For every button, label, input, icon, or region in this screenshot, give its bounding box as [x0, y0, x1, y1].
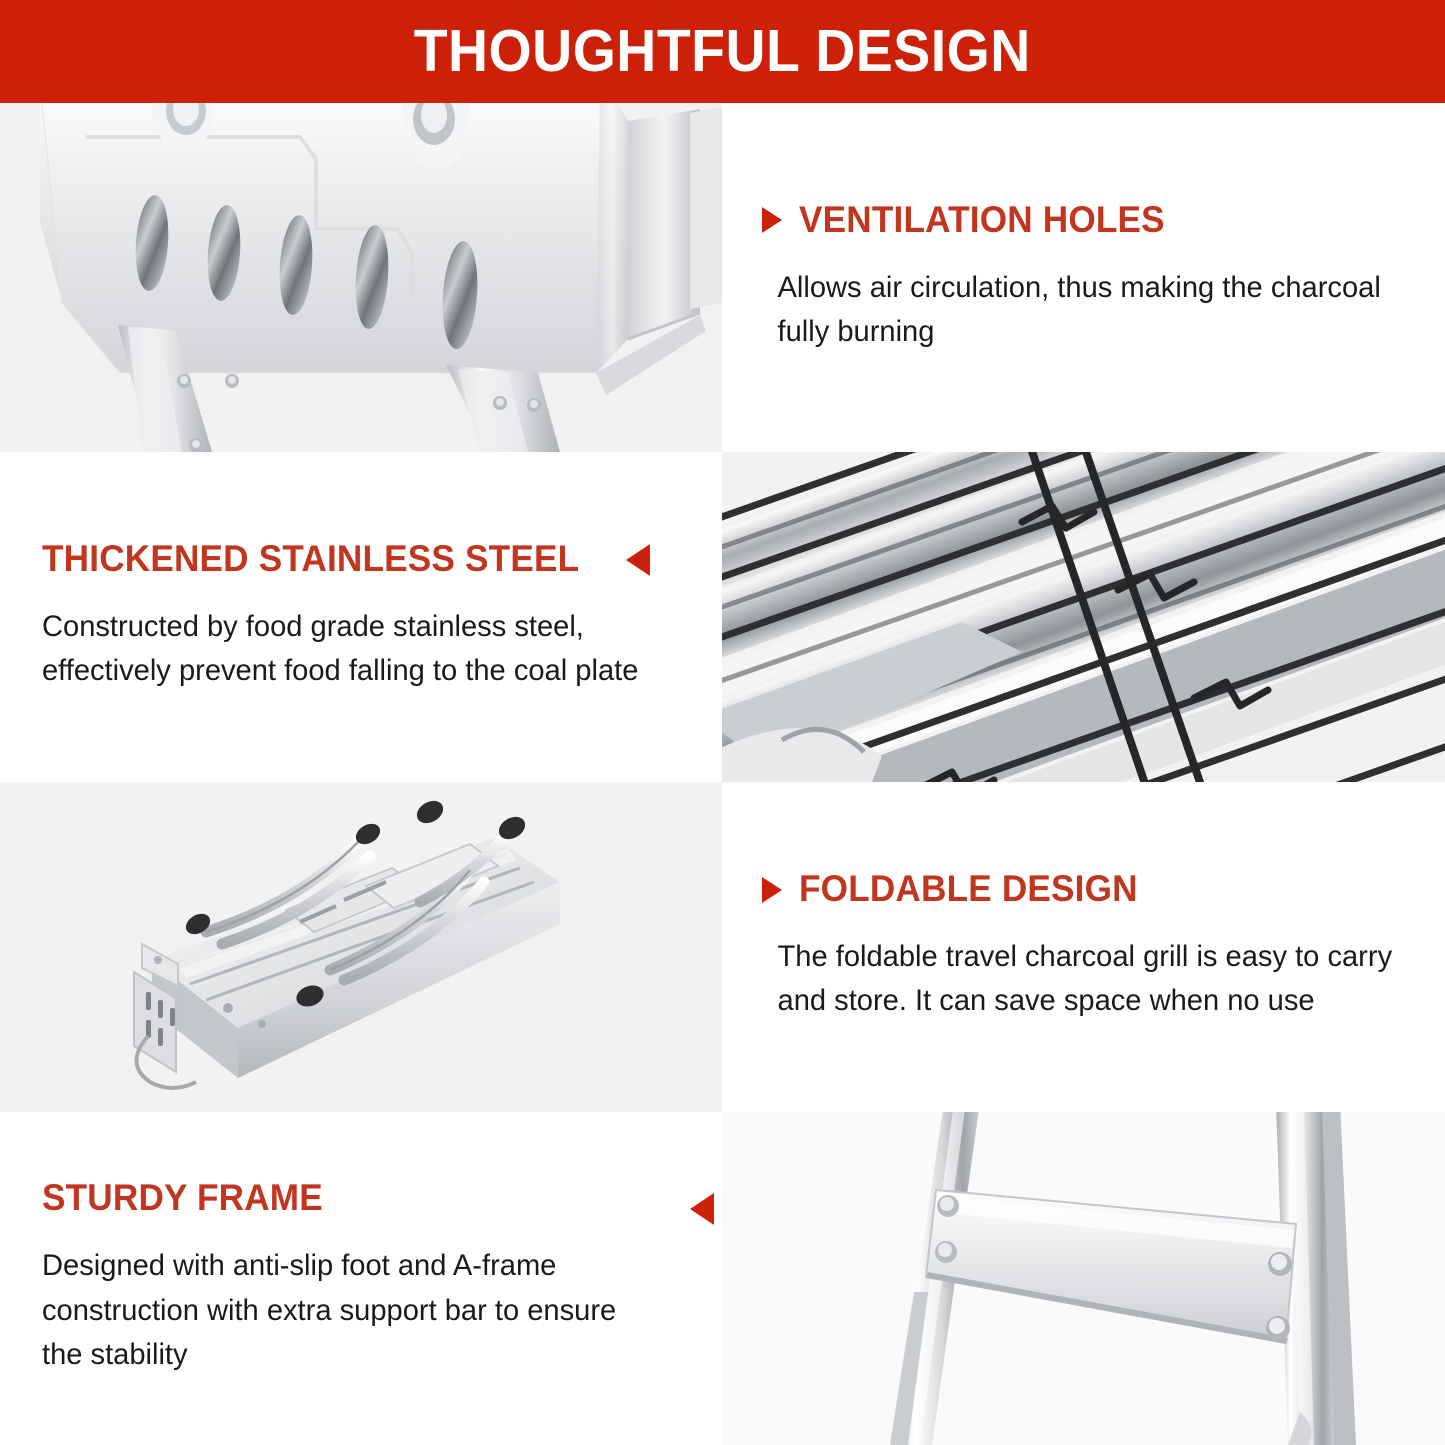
feature-image-thickened-stainless-steel [722, 452, 1445, 782]
feature-body-sturdy-frame: Designed with anti-slip foot and A-frame… [42, 1244, 663, 1377]
feature-heading-sturdy-frame: STURDY FRAME [42, 1179, 323, 1218]
folded-grill-photo [0, 782, 722, 1112]
feature-heading-row-ventilation-holes: VENTILATION HOLES [762, 201, 1415, 240]
triangle-left-icon [626, 544, 650, 576]
feature-grid: VENTILATION HOLES Allows air circulation… [0, 103, 1445, 1445]
feature-text-sturdy-frame: STURDY FRAME Designed with anti-slip foo… [0, 1112, 722, 1445]
feature-image-foldable-design [0, 782, 722, 1112]
frame-leg-photo [722, 1112, 1445, 1445]
grill-grate-photo [722, 452, 1445, 782]
feature-body-foldable-design: The foldable travel charcoal grill is ea… [762, 935, 1395, 1024]
feature-heading-ventilation-holes: VENTILATION HOLES [799, 201, 1165, 240]
triangle-right-icon [762, 207, 782, 233]
feature-heading-row-thickened-stainless-steel: THICKENED STAINLESS STEEL [42, 540, 682, 579]
feature-heading-row-sturdy-frame: STURDY FRAME [42, 1179, 682, 1218]
feature-text-thickened-stainless-steel: THICKENED STAINLESS STEEL Constructed by… [0, 452, 722, 782]
infographic-page: THOUGHTFUL DESIGN [0, 0, 1445, 1445]
grill-body-photo [0, 103, 722, 452]
feature-text-foldable-design: FOLDABLE DESIGN The foldable travel char… [722, 782, 1445, 1112]
feature-body-thickened-stainless-steel: Constructed by food grade stainless stee… [42, 605, 663, 694]
header-banner: THOUGHTFUL DESIGN [0, 0, 1445, 103]
feature-heading-thickened-stainless-steel: THICKENED STAINLESS STEEL [42, 540, 579, 579]
feature-heading-foldable-design: FOLDABLE DESIGN [799, 870, 1138, 909]
triangle-left-icon [690, 1193, 714, 1225]
feature-heading-row-foldable-design: FOLDABLE DESIGN [762, 870, 1415, 909]
feature-text-ventilation-holes: VENTILATION HOLES Allows air circulation… [722, 103, 1445, 452]
triangle-right-icon [762, 877, 782, 903]
feature-image-ventilation-holes [0, 103, 722, 452]
feature-image-sturdy-frame [722, 1112, 1445, 1445]
feature-body-ventilation-holes: Allows air circulation, thus making the … [762, 266, 1395, 355]
page-title: THOUGHTFUL DESIGN [414, 22, 1031, 81]
